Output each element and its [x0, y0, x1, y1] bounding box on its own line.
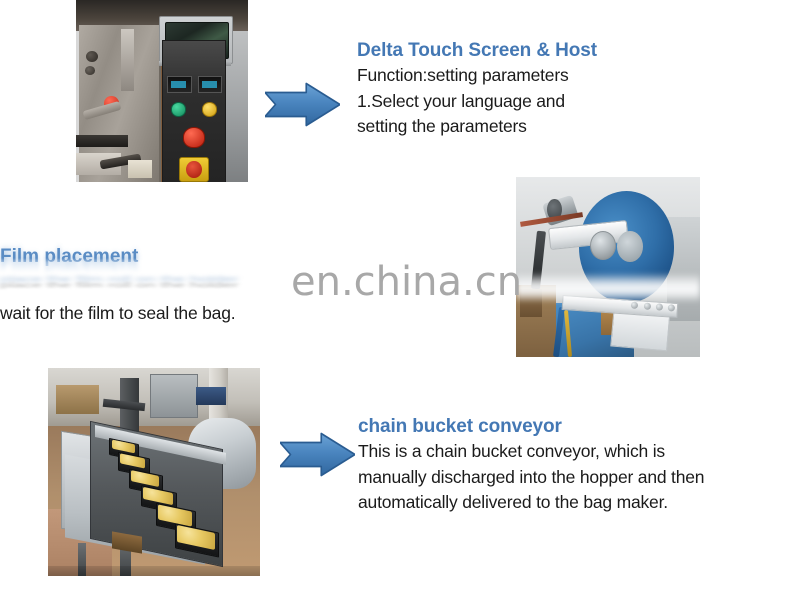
text-block-chain-bucket-conveyor: chain bucket conveyor This is a chain bu…	[358, 415, 704, 516]
heading-delta-touch-screen: Delta Touch Screen & Host	[357, 39, 597, 63]
text-block-touch-screen: Delta Touch Screen & Host Function:setti…	[357, 39, 597, 140]
conveyor-scene	[48, 368, 260, 576]
control-panel-scene	[76, 0, 248, 182]
heading-chain-bucket-conveyor: chain bucket conveyor	[358, 415, 704, 439]
text-block-film-placement: Film placement Film placement place the …	[0, 246, 340, 268]
body-line: This is a chain bucket conveyor, which i…	[358, 439, 704, 465]
film-roll-scene	[516, 177, 700, 357]
photo-blur-band	[516, 274, 700, 301]
watermark-en-china-cn: en.china.cn	[291, 259, 522, 305]
body-line: manually discharged into the hopper and …	[358, 465, 704, 491]
text-block-film-wait: wait for the film to seal the bag.	[0, 301, 235, 327]
body-line: wait for the film to seal the bag.	[0, 301, 235, 327]
body-line: Function:setting parameters	[357, 63, 597, 89]
body-line: 1.Select your language and	[357, 89, 597, 115]
obscured-text-line-shadow: place the film roll on the holder	[0, 280, 238, 290]
photo-chain-bucket-conveyor	[48, 368, 260, 576]
body-line: setting the parameters	[357, 114, 597, 140]
product-feature-image: Delta Touch Screen & Host Function:setti…	[0, 0, 800, 590]
heading-film-placement: Film placement Film placement	[0, 246, 340, 268]
arrow-right-icon-1	[265, 82, 340, 127]
photo-control-panel	[76, 0, 248, 182]
arrow-right-icon-2	[280, 432, 355, 477]
photo-film-roll	[516, 177, 700, 357]
body-line: automatically delivered to the bag maker…	[358, 490, 704, 516]
